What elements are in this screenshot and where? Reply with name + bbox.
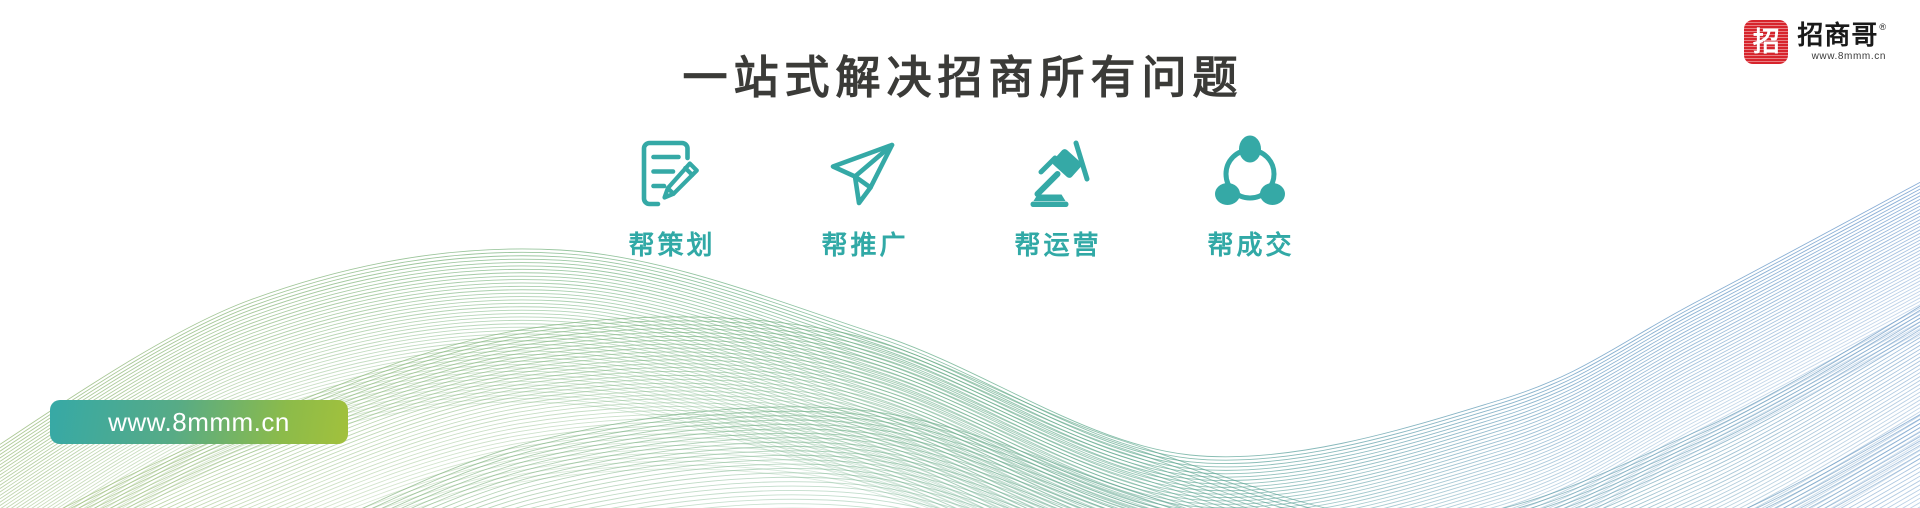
feature-list: 帮策划 帮推广 — [598, 132, 1322, 258]
registered-trademark-icon: ® — [1879, 23, 1886, 32]
feature-item-planning[interactable]: 帮策划 — [598, 132, 743, 258]
logo-wordmark-row: 招商哥 ® — [1797, 22, 1886, 48]
website-url-badge[interactable]: www.8mmm.cn — [50, 400, 348, 444]
gavel-icon — [1015, 132, 1099, 216]
page-title: 一站式解决招商所有问题 — [0, 52, 1920, 104]
document-pencil-icon — [629, 132, 713, 216]
feature-label: 帮成交 — [1204, 232, 1294, 258]
feature-label: 帮策划 — [625, 232, 715, 258]
feature-label: 帮推广 — [818, 232, 908, 258]
feature-item-deal[interactable]: 帮成交 — [1177, 132, 1322, 258]
logo-wordmark: 招商哥 — [1797, 22, 1878, 48]
promo-banner: 招 招商哥 ® www.8mmm.cn 一站式解决招商所有问题 — [0, 0, 1920, 508]
feature-label: 帮运营 — [1011, 232, 1101, 258]
people-network-icon — [1208, 132, 1292, 216]
feature-item-operations[interactable]: 帮运营 — [984, 132, 1129, 258]
website-url-text: www.8mmm.cn — [108, 409, 290, 435]
paper-plane-icon — [822, 132, 906, 216]
feature-item-promotion[interactable]: 帮推广 — [791, 132, 936, 258]
